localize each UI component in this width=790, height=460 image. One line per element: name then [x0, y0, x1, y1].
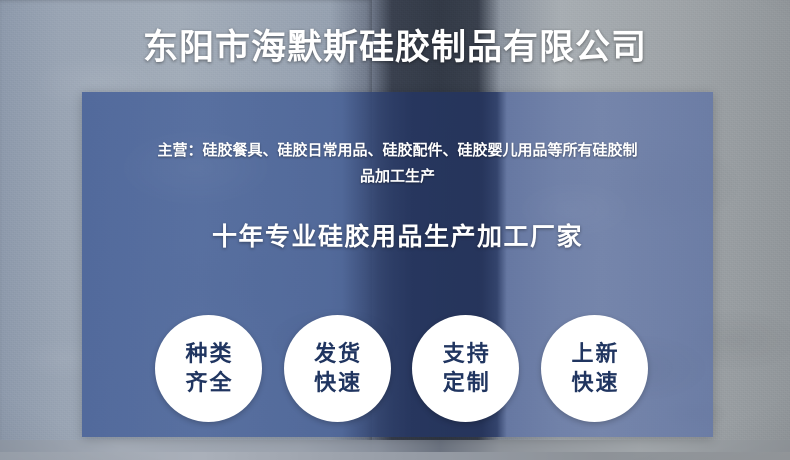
- vignette-overlay: [0, 0, 790, 460]
- promo-banner: 东阳市海默斯硅胶制品有限公司 主营：硅胶餐具、硅胶日常用品、硅胶配件、硅胶婴儿用…: [0, 0, 790, 460]
